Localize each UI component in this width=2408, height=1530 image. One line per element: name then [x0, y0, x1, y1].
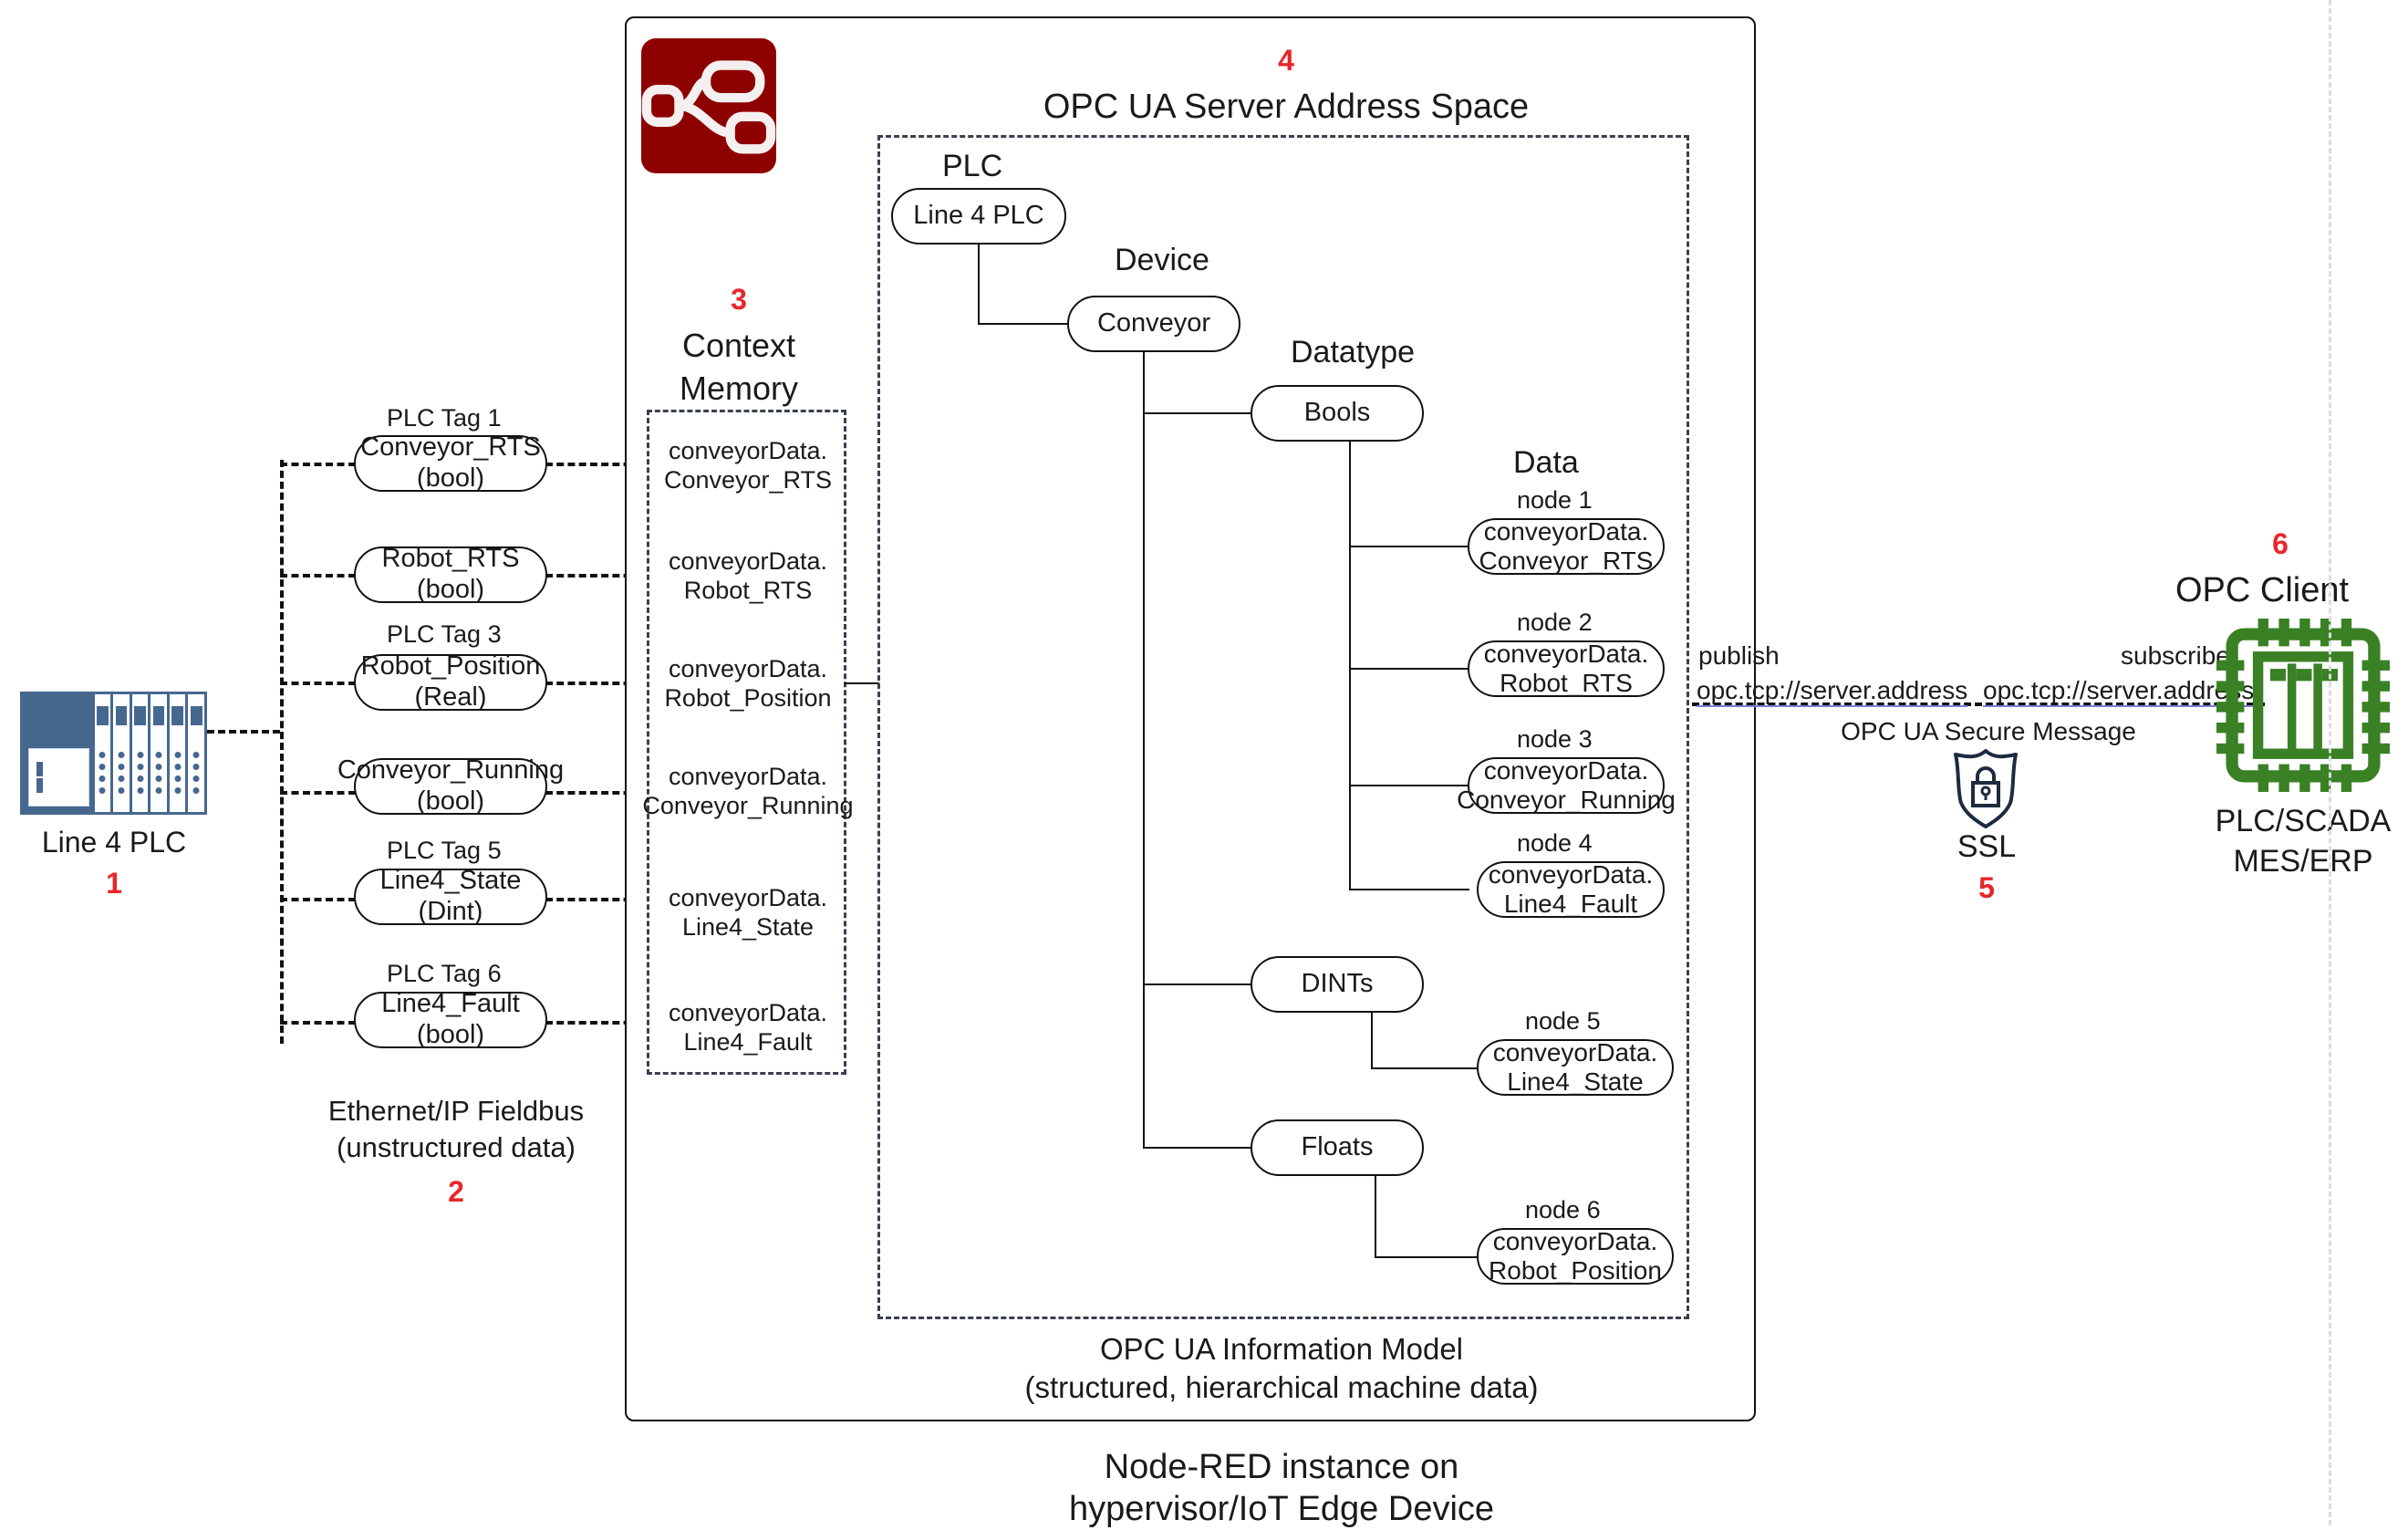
context-entry-prefix: conveyorData. — [669, 547, 827, 575]
information-model-line2: (structured, hierarchical machine data) — [876, 1370, 1687, 1406]
plc-tag-type: (bool) — [417, 786, 484, 816]
fieldbus-stub — [280, 463, 356, 466]
address-node-data: conveyorData.Robot_Position — [1477, 1228, 1674, 1285]
ssl-shield-icon — [1948, 746, 2023, 830]
data-node-prefix: conveyorData. — [1489, 860, 1654, 889]
edge-footer-line1: Node-RED instance on — [876, 1447, 1687, 1488]
group-caption-plc: PLC — [942, 148, 1002, 184]
callout-5: 5 — [1888, 871, 2085, 906]
tree-link-device-bools — [1143, 412, 1252, 414]
plc-tag-caption: PLC Tag 3 — [387, 620, 502, 650]
fieldbus-stub — [280, 898, 356, 901]
opc-client-title: OPC Client — [2125, 570, 2399, 611]
data-node-caption: node 3 — [1517, 725, 1593, 755]
context-entry-prefix: conveyorData. — [669, 763, 827, 790]
edge-footer-line2: hypervisor/IoT Edge Device — [876, 1489, 1687, 1530]
fieldbus-stub — [280, 1021, 356, 1025]
data-node-caption: node 4 — [1517, 829, 1593, 859]
tree-link-bools-node1 — [1349, 546, 1469, 547]
context-entry: conveyorData. Conveyor_RTS — [638, 437, 857, 495]
fieldbus-label-line1: Ethernet/IP Fieldbus — [274, 1095, 638, 1129]
subscribe-label: subscribe — [2121, 640, 2230, 671]
plc-tag-node: Line4_State(Dint) — [354, 869, 547, 925]
data-node-prefix: conveyorData. — [1484, 517, 1649, 546]
data-node-prefix: conveyorData. — [1484, 640, 1649, 668]
opc-client-sub-line1: PLC/SCADA — [2171, 803, 2408, 839]
subscribe-endpoint-url[interactable]: opc.tcp://server.address — [1983, 675, 2254, 707]
address-space-title: OPC UA Server Address Space — [876, 87, 1697, 128]
tree-link-plc-device — [978, 323, 1069, 325]
context-entry-suffix: Line4_State — [682, 913, 814, 941]
context-memory-title-line2: Memory — [620, 369, 857, 408]
tree-link-device-floats — [1143, 1147, 1252, 1149]
plc-tag-name: Line4_State — [380, 866, 522, 895]
plc-tag-name: Conveyor_RTS — [360, 432, 541, 462]
data-node-suffix: Line4_Fault — [1504, 890, 1637, 918]
data-node-prefix: conveyorData. — [1493, 1227, 1658, 1255]
fieldbus-trunk — [280, 460, 284, 1044]
address-node-datatype-label: Bools — [1304, 398, 1371, 429]
publish-label: publish — [1698, 640, 1780, 671]
data-node-suffix: Conveyor_Running — [1457, 786, 1676, 814]
callout-1: 1 — [0, 867, 228, 901]
secure-message-label: OPC UA Secure Message — [1806, 716, 2171, 746]
context-entry-suffix: Line4_Fault — [683, 1028, 812, 1056]
data-node-prefix: conveyorData. — [1484, 756, 1649, 785]
address-node-datatype-label: Floats — [1302, 1132, 1374, 1163]
callout-3: 3 — [620, 283, 857, 317]
tree-link-bools-node3 — [1349, 785, 1469, 786]
plc-tag-name: Conveyor_Running — [337, 755, 564, 785]
tree-trunk-dints — [1371, 1013, 1373, 1069]
fieldbus-link-from-plc — [207, 730, 280, 734]
data-node-suffix: Robot_RTS — [1500, 669, 1633, 697]
context-entry-prefix: conveyorData. — [669, 437, 827, 464]
plc-tag-name: Line4_Fault — [381, 989, 520, 1018]
tree-link-plc-device — [978, 245, 980, 325]
tree-link-device-dints — [1143, 984, 1252, 985]
group-caption-device: Device — [1115, 242, 1209, 278]
data-node-caption: node 6 — [1525, 1196, 1601, 1225]
context-entry-prefix: conveyorData. — [669, 655, 827, 682]
page-boundary-guide — [2329, 0, 2331, 1525]
address-node-device: Conveyor — [1067, 296, 1240, 352]
plc-tag-caption: PLC Tag 1 — [387, 404, 502, 433]
plc-tag-type: (bool) — [417, 463, 484, 493]
callout-6: 6 — [2171, 527, 2390, 562]
address-node-device-label: Conveyor — [1097, 308, 1210, 339]
context-entry-suffix: Conveyor_RTS — [664, 466, 832, 494]
plc-tag-type: (bool) — [417, 575, 484, 604]
address-node-plc: Line 4 PLC — [891, 188, 1066, 245]
plc-tag-node: Line4_Fault(bool) — [354, 992, 547, 1048]
plc-tag-type: (bool) — [417, 1020, 484, 1049]
cpu-chip-icon — [2216, 619, 2390, 792]
context-entry-suffix: Robot_RTS — [684, 577, 813, 604]
context-entry: conveyorData. Robot_Position — [638, 655, 857, 713]
data-node-caption: node 2 — [1517, 609, 1593, 638]
tree-trunk-bools — [1349, 442, 1351, 890]
context-entry: conveyorData. Robot_RTS — [638, 547, 857, 606]
address-node-data: conveyorData.Robot_RTS — [1468, 640, 1665, 697]
fieldbus-label-line2: (unstructured data) — [274, 1131, 638, 1165]
node-red-logo — [641, 38, 776, 173]
context-entry-prefix: conveyorData. — [669, 884, 827, 911]
context-entry: conveyorData. Line4_Fault — [638, 999, 857, 1057]
plc-tag-name: Robot_RTS — [382, 544, 520, 573]
data-node-caption: node 5 — [1525, 1007, 1601, 1036]
context-entry: conveyorData. Conveyor_Running — [637, 763, 859, 821]
data-node-suffix: Line4_State — [1507, 1067, 1643, 1096]
data-node-prefix: conveyorData. — [1493, 1038, 1658, 1067]
plc-tag-type: (Real) — [415, 682, 487, 712]
tree-link-bools-node4 — [1349, 889, 1469, 890]
plc-tag-caption: PLC Tag 5 — [387, 837, 502, 866]
context-memory-box — [647, 410, 846, 1075]
ssl-label: SSL — [1888, 828, 2085, 865]
context-entry-prefix: conveyorData. — [669, 999, 827, 1026]
address-node-datatype-label: DINTs — [1302, 969, 1374, 1000]
opc-client-sub-line2: MES/ERP — [2171, 843, 2408, 879]
data-node-suffix: Conveyor_RTS — [1479, 546, 1654, 575]
plc-cpu-module — [23, 694, 92, 812]
plc-tag-node: Conveyor_Running(bool) — [354, 758, 547, 815]
plc-device-label: Line 4 PLC — [0, 826, 228, 860]
address-node-data: conveyorData.Line4_Fault — [1477, 861, 1665, 918]
plc-tag-node: Conveyor_RTS(bool) — [354, 435, 547, 492]
fieldbus-stub — [280, 682, 356, 685]
plc-tag-name: Robot_Position — [361, 651, 541, 681]
address-node-datatype: Floats — [1251, 1119, 1424, 1176]
publish-endpoint-url[interactable]: opc.tcp://server.address — [1697, 675, 1967, 707]
tree-link-floats-node6 — [1375, 1256, 1479, 1258]
tree-link-bools-node2 — [1349, 668, 1469, 670]
tree-trunk-device — [1143, 352, 1145, 1149]
group-caption-data: Data — [1513, 444, 1579, 481]
data-node-caption: node 1 — [1517, 486, 1593, 515]
callout-2: 2 — [274, 1175, 638, 1210]
group-caption-datatype: Datatype — [1291, 334, 1415, 370]
data-node-suffix: Robot_Position — [1489, 1256, 1662, 1285]
tree-trunk-floats — [1375, 1176, 1376, 1258]
plc-tag-node: Robot_Position(Real) — [354, 654, 547, 711]
fieldbus-stub — [280, 791, 356, 795]
plc-tag-type: (Dint) — [419, 897, 483, 926]
information-model-line1: OPC UA Information Model — [876, 1332, 1687, 1368]
address-node-datatype: Bools — [1251, 385, 1424, 442]
context-memory-title-line1: Context — [620, 327, 857, 365]
plc-rack-icon — [20, 692, 207, 815]
address-node-data: conveyorData.Line4_State — [1477, 1039, 1674, 1096]
address-node-data: conveyorData.Conveyor_RTS — [1468, 518, 1665, 575]
plc-tag-caption: PLC Tag 6 — [387, 960, 502, 989]
fieldbus-stub — [280, 574, 356, 578]
context-entry-suffix: Conveyor_Running — [642, 792, 853, 819]
plc-tag-node: Robot_RTS(bool) — [354, 546, 547, 603]
tree-link-dints-node5 — [1371, 1067, 1479, 1069]
callout-4: 4 — [876, 44, 1697, 78]
address-node-plc-label: Line 4 PLC — [913, 201, 1044, 232]
address-node-data: conveyorData.Conveyor_Running — [1468, 757, 1665, 814]
context-to-addressspace-link — [845, 682, 879, 684]
context-entry: conveyorData. Line4_State — [638, 884, 857, 942]
address-node-datatype: DINTs — [1251, 956, 1424, 1013]
context-entry-suffix: Robot_Position — [664, 684, 831, 712]
